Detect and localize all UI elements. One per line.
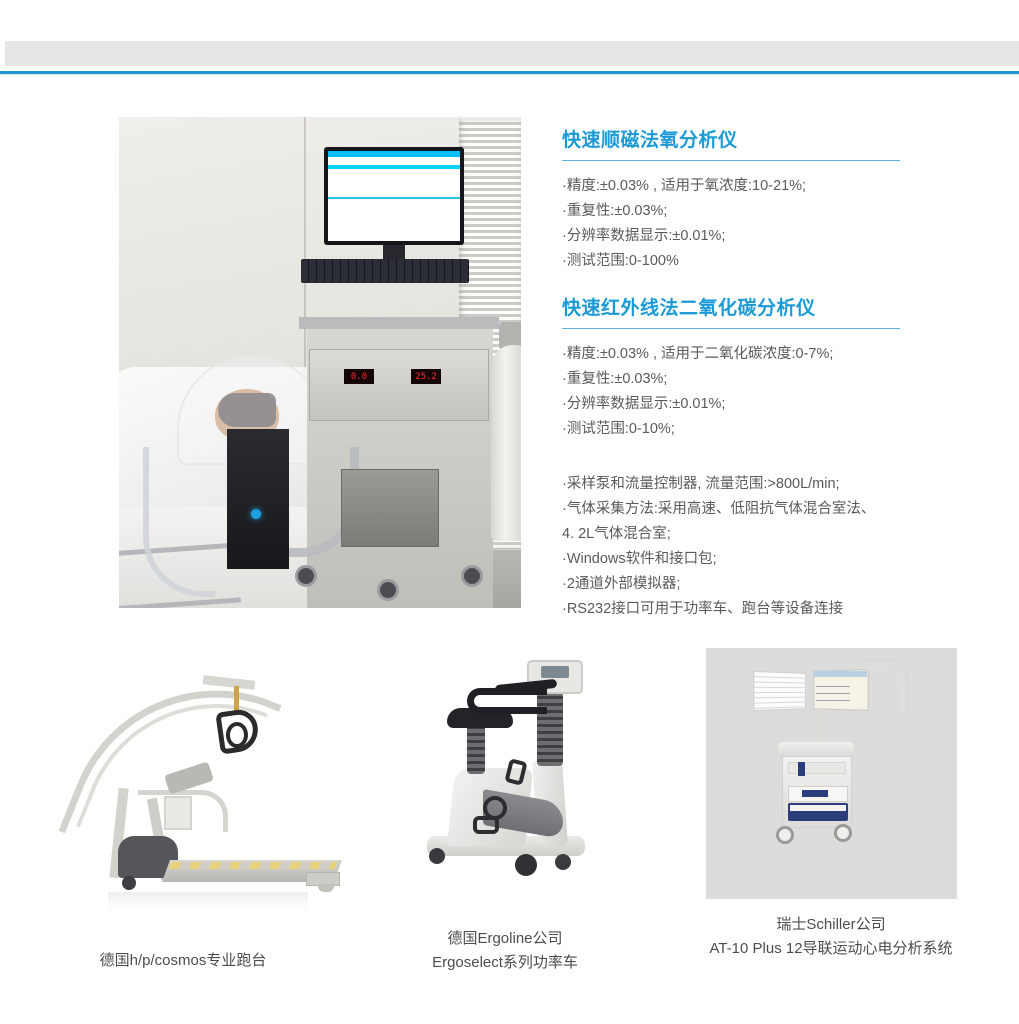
bike-foot	[555, 854, 571, 870]
photo-led-display-right: 25.2	[411, 369, 441, 384]
caption-line: 德国Ergoline公司	[355, 927, 655, 951]
spec-list-oxygen: ·精度:±0.03% , 适用于氧浓度:10-21%; ·重复性:±0.03%;…	[562, 174, 962, 274]
spec-title-co2: 快速红外线法二氧化碳分析仪	[562, 296, 962, 322]
photo-patient-mask	[218, 393, 276, 427]
spec-item: 4. 2L气体混合室;	[562, 522, 962, 547]
spec-item: ·2通道外部模拟器;	[562, 572, 962, 597]
treadmill-harness-loop	[226, 722, 248, 748]
ecg-system-caption: 瑞士Schiller公司 AT-10 Plus 12导联运动心电分析系统	[661, 913, 1001, 961]
spec-item: ·精度:±0.03% , 适用于二氧化碳浓度:0-7%;	[562, 342, 962, 367]
photo-desktop-pc	[227, 429, 289, 569]
section-spacer	[562, 442, 962, 472]
product-treadmill: 德国h/p/cosmos专业跑台	[18, 648, 348, 973]
bike-seat-post-bellows	[467, 722, 485, 774]
treadmill-image	[18, 648, 348, 913]
spec-item: ·采样泵和流量控制器, 流量范围:>800L/min;	[562, 472, 962, 497]
treadmill-post-panel	[164, 796, 192, 830]
bike-caption: 德国Ergoline公司 Ergoselect系列功率车	[355, 927, 655, 975]
spec-underline	[562, 160, 900, 161]
spec-underline	[562, 328, 900, 329]
bike-pedal	[473, 816, 499, 834]
ecg-cart-caster	[776, 826, 794, 844]
photo-monitor	[324, 147, 464, 245]
ecg-printer-lower-tray	[790, 805, 846, 811]
caption-line: 瑞士Schiller公司	[661, 913, 1001, 937]
spec-item: ·RS232接口可用于功率车、跑台等设备连接	[562, 597, 962, 622]
treadmill-foot	[318, 884, 334, 892]
spec-list-co2: ·精度:±0.03% , 适用于二氧化碳浓度:0-7%; ·重复性:±0.03%…	[562, 342, 962, 442]
section-spacer	[562, 274, 962, 296]
spec-list-general: ·采样泵和流量控制器, 流量范围:>800L/min; ·气体采集方法:采用高速…	[562, 472, 962, 622]
bike-console-screen	[541, 666, 569, 678]
ecg-report-screen	[753, 671, 806, 711]
caption-line: Ergoselect系列功率车	[355, 951, 655, 975]
photo-keyboard	[301, 259, 469, 283]
header-blue-rule-thin	[0, 74, 1019, 75]
page-root: 0.0 25.2 快速顺磁法氧分析仪 ·精度:±0.03% , 适用于氧浓度:1…	[0, 0, 1019, 1024]
ecg-cart-drawer	[788, 762, 846, 774]
ecg-screen-titlebar	[813, 671, 867, 677]
product-row: 德国h/p/cosmos专业跑台	[0, 648, 1019, 1024]
spec-title-oxygen: 快速顺磁法氧分析仪	[562, 128, 962, 154]
treadmill-belt	[169, 862, 338, 869]
treadmill-reflection	[108, 892, 308, 910]
treadmill-hook	[234, 686, 239, 712]
bike-transport-wheel	[515, 854, 537, 876]
spec-item: ·重复性:±0.03%;	[562, 367, 962, 392]
treadmill-caption: 德国h/p/cosmos专业跑台	[18, 949, 348, 973]
spec-item: ·精度:±0.03% , 适用于氧浓度:10-21%;	[562, 174, 962, 199]
ecg-monitor-pole	[818, 708, 825, 746]
specification-column: 快速顺磁法氧分析仪 ·精度:±0.03% , 适用于氧浓度:10-21%; ·重…	[562, 128, 962, 622]
photo-pc-power-led	[251, 509, 261, 519]
bike-foot	[429, 848, 445, 864]
spec-item: ·测试范围:0-10%;	[562, 417, 962, 442]
photo-analyzer-panel	[309, 349, 489, 421]
photo-gas-tank	[491, 345, 521, 541]
spec-item: ·Windows软件和接口包;	[562, 547, 962, 572]
product-ergometer-bike: 德国Ergoline公司 Ergoselect系列功率车	[355, 648, 655, 975]
bike-image	[355, 648, 655, 913]
ecg-cart-caster	[834, 824, 852, 842]
caption-line: AT-10 Plus 12导联运动心电分析系统	[661, 937, 1001, 961]
spec-item: ·测试范围:0-100%	[562, 249, 962, 274]
metabolic-cart-photo: 0.0 25.2	[119, 117, 521, 608]
treadmill-boom	[203, 675, 256, 689]
photo-cart-wheel	[377, 579, 399, 601]
photo-pump-box	[341, 469, 439, 547]
photo-cart-shelf	[299, 317, 499, 329]
ecg-waveform-traces	[816, 680, 850, 702]
photo-cart-wheel	[461, 565, 483, 587]
ecg-lead-cables-inner	[864, 668, 904, 712]
spec-item: ·气体采集方法:采用高速、低阻抗气体混合室法、	[562, 497, 962, 522]
photo-cart-wheel	[295, 565, 317, 587]
ecg-cart-blue-tab	[798, 762, 805, 776]
product-ecg-system: 瑞士Schiller公司 AT-10 Plus 12导联运动心电分析系统	[661, 648, 1001, 961]
spec-item: ·重复性:±0.03%;	[562, 199, 962, 224]
header-gray-band	[5, 41, 1019, 66]
spec-item: ·分辨率数据显示:±0.01%;	[562, 224, 962, 249]
ecg-printer-upper-panel	[802, 790, 828, 797]
spec-item: ·分辨率数据显示:±0.01%;	[562, 392, 962, 417]
photo-led-display-left: 0.0	[344, 369, 374, 384]
photo-monitor-stand	[383, 245, 405, 259]
caption-line: 德国h/p/cosmos专业跑台	[18, 949, 348, 973]
ecg-system-image	[706, 648, 957, 899]
treadmill-wheel	[122, 876, 136, 890]
photo-wall-corner	[304, 117, 306, 397]
photo-monitor-screen	[328, 151, 460, 241]
